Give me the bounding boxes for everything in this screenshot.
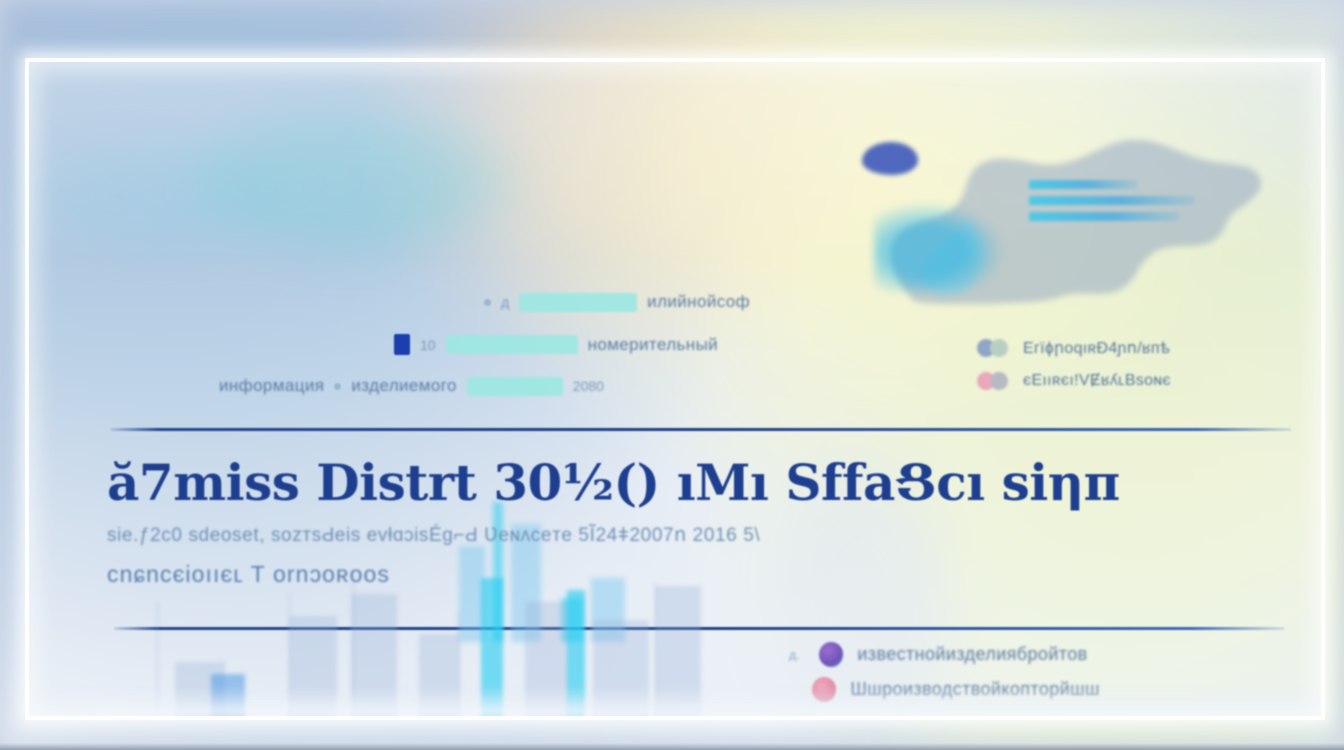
highlight-bar [519, 293, 637, 312]
stat-label: номерительный [588, 335, 719, 355]
stat-value: д [501, 294, 509, 310]
dot-marker-icon [334, 383, 341, 390]
legend-swatch-icon [977, 372, 1011, 390]
page-title: ă7misѕ Distrt 30½() ıMı SffaՑcı siηπ [107, 454, 987, 512]
stat-left-note: информация [219, 376, 324, 396]
highlight-bar [446, 335, 578, 354]
dashboard-panel: д илийнойсоф 10 номерительный информация… [29, 62, 1321, 716]
legend-dot-icon [819, 642, 843, 667]
stat-label: илийнойсоф [647, 292, 750, 312]
stat-rows-group: д илийнойсоф 10 номерительный информация… [219, 284, 859, 404]
legend-top: ЕгїɸրοqıʀĐ4ɲո/ʁпѣ єЕııʀєıǃVɆʁʎʟBѕоɴє [977, 338, 1171, 404]
legend-prefix: д. [789, 648, 799, 662]
stat-value: 10 [420, 337, 436, 353]
map-overlay-line-2 [1029, 196, 1195, 205]
bottom-edge-shadow [0, 743, 1344, 750]
stat-row[interactable]: д илийнойсоф [484, 292, 750, 312]
legend-item[interactable]: ЕгїɸրοqıʀĐ4ɲո/ʁпѣ [977, 338, 1171, 358]
map-overlay-line-3 [1029, 212, 1180, 221]
legend-item-label: єЕııʀєıǃVɆʁʎʟBѕоɴє [1023, 372, 1171, 390]
legend-item-label: ЕгїɸրοqıʀĐ4ɲո/ʁпѣ [1023, 338, 1170, 358]
divider-top [111, 428, 1291, 431]
square-marker-icon [394, 334, 410, 355]
map-overlay-line-1 [1029, 180, 1137, 189]
legend-item[interactable]: єЕııʀєıǃVɆʁʎʟBѕоɴє [977, 372, 1171, 390]
panel-bottom-fade [29, 686, 1321, 716]
map-cyan-glow [874, 202, 1004, 292]
legend-item-label: известнойизделиябройтов [857, 644, 1087, 665]
highlight-bar [467, 377, 563, 396]
stat-label: изделиемого [351, 376, 456, 396]
stat-row[interactable]: 10 номерительный [394, 334, 718, 355]
legend-swatch-icon [977, 339, 1011, 357]
legend-item[interactable]: д. известнойизделиябройтов [789, 642, 1236, 667]
page-subtitle: sie.ƒ2c0 sdeoset, sozтsԀeis evⱡɑɔisÉɡ⌐Ԁ … [107, 522, 987, 550]
stat-value: 2080 [573, 378, 604, 394]
stat-row[interactable]: информация изделиемого 2080 [219, 376, 604, 396]
map-highlight-blob [862, 142, 918, 175]
map-overlay-text [1029, 180, 1209, 242]
dot-marker-icon [484, 299, 491, 306]
